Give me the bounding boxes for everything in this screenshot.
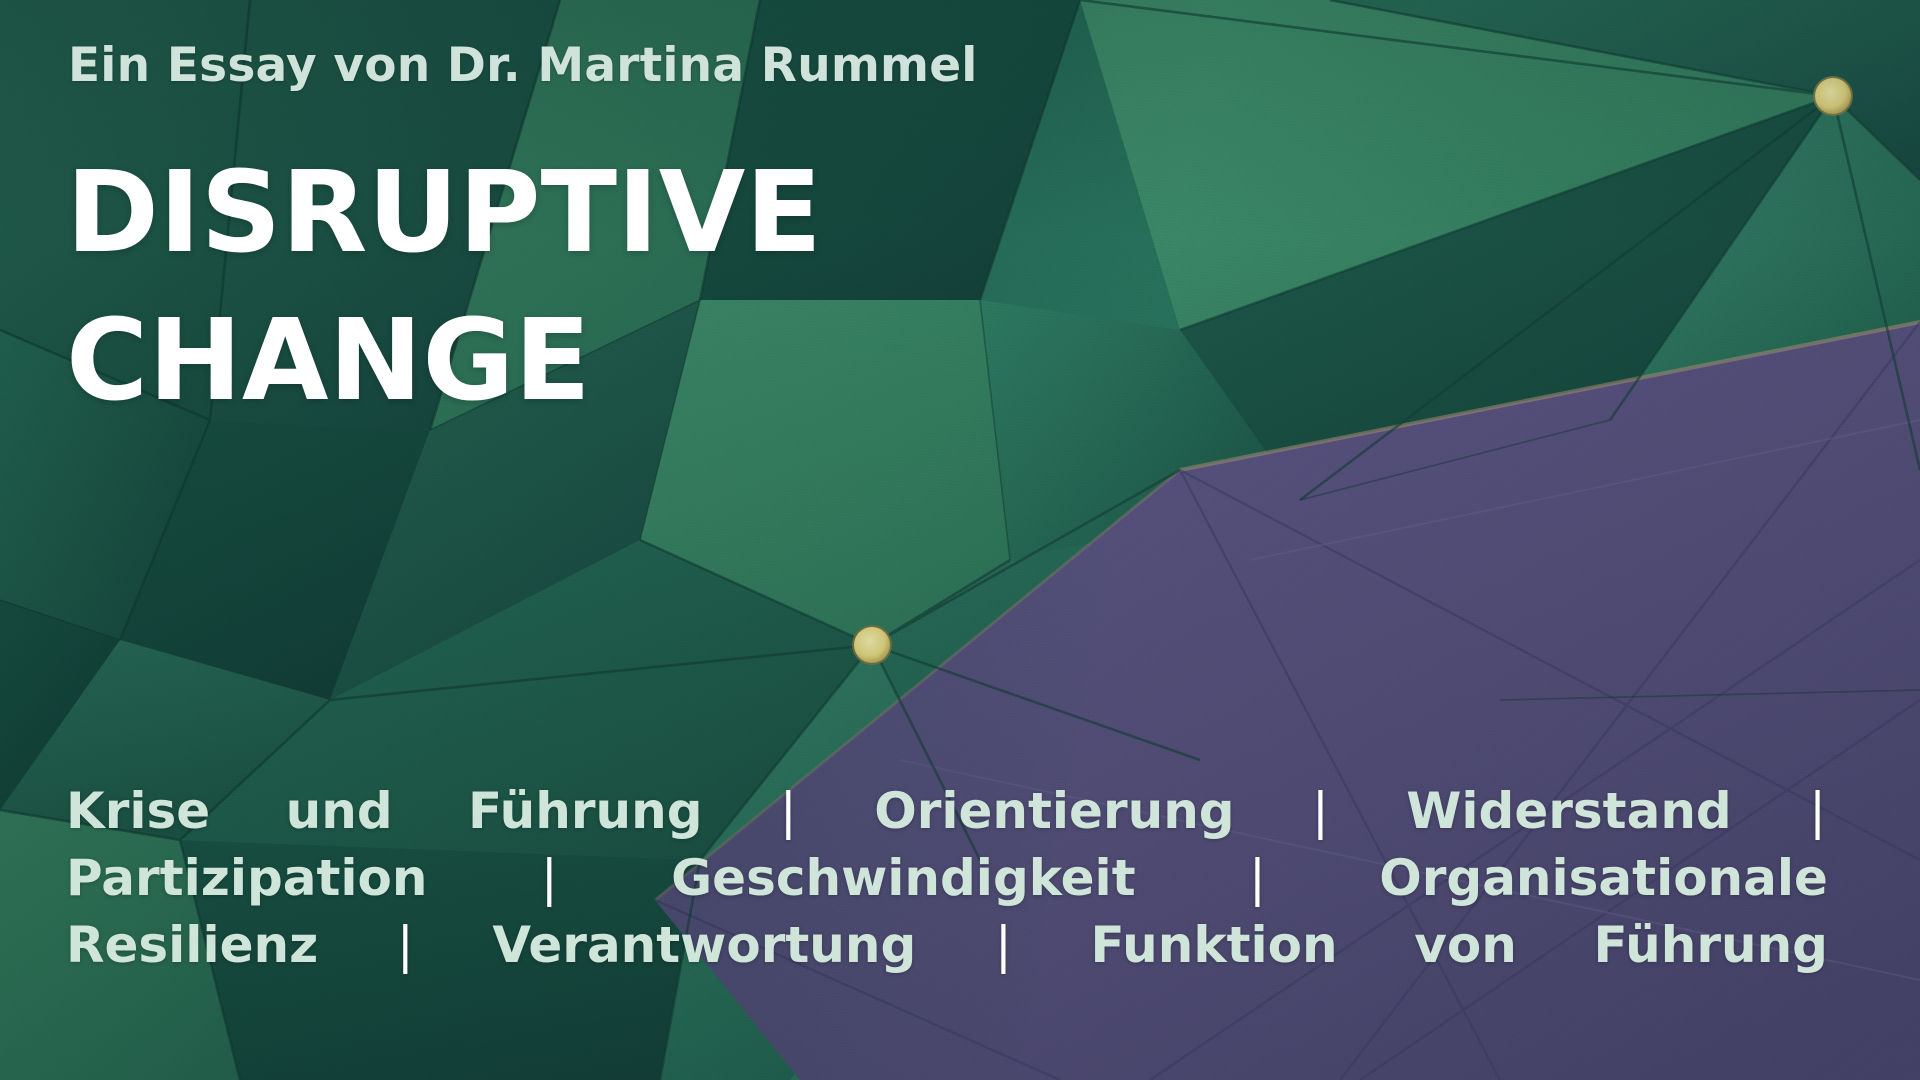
topic-separator: | xyxy=(539,849,560,907)
topic-separator: | xyxy=(778,782,799,840)
title-line-1: DISRUPTIVE xyxy=(66,140,966,288)
title-line-2: CHANGE xyxy=(66,288,966,436)
topic-separator: | xyxy=(395,916,416,974)
topic-separator: | xyxy=(1247,849,1268,907)
topic-line-1: Krise und Führung | Orientierung | Wider… xyxy=(66,778,1828,845)
topic-line-2: Partizipation | Geschwindigkeit | Organi… xyxy=(66,845,1828,912)
topic-separator: | xyxy=(1807,782,1828,840)
author-eyebrow: Ein Essay von Dr. Martina Rummel xyxy=(68,40,978,93)
essay-cover-banner: Ein Essay von Dr. Martina Rummel DISRUPT… xyxy=(0,0,1920,1080)
topic-separator: | xyxy=(1310,782,1331,840)
topic-line-3: Resilienz | Verantwortung | Funktion von… xyxy=(66,912,1828,979)
topic-list: Krise und Führung | Orientierung | Wider… xyxy=(66,778,1828,979)
topic-separator: | xyxy=(993,916,1014,974)
page-title: DISRUPTIVE CHANGE xyxy=(66,140,966,436)
